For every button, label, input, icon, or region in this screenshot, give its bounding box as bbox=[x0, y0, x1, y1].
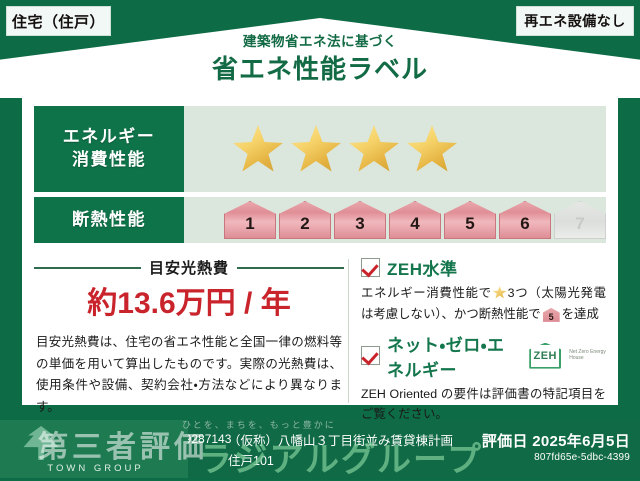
inline-star-icon bbox=[493, 286, 507, 299]
insulation-level-1: 1 bbox=[224, 201, 276, 239]
insulation-performance-label: 断熱性能 bbox=[34, 197, 184, 243]
insulation-level-7: 7 bbox=[554, 201, 606, 239]
claim-text-part2: は考慮しない）、かつ断熱性能で bbox=[361, 307, 541, 321]
insulation-level-2: 2 bbox=[279, 201, 331, 239]
energy-label-line2: 消費性能 bbox=[72, 149, 146, 172]
star-icon bbox=[406, 124, 458, 174]
label-card: エネルギー 消費性能 断熱性能 1234567 目安光熱費 約13.6万円 bbox=[22, 98, 618, 405]
insulation-level-number: 7 bbox=[575, 215, 584, 239]
claim-net-zero-energy-head: ネット・ゼロ・エネルギー ZEH Net Zero Energy House bbox=[361, 331, 606, 381]
utility-cost-note: 目安光熱費は、住宅の省エネ性能と全国一律の燃料等の単価を用いて算出したものです。… bbox=[34, 332, 344, 418]
lower-section: 目安光熱費 約13.6万円 / 年 目安光熱費は、住宅の省エネ性能と全国一律の燃… bbox=[34, 255, 606, 407]
insulation-level-number: 3 bbox=[355, 215, 364, 239]
insulation-level-5: 5 bbox=[444, 201, 496, 239]
energy-performance-label: エネルギー 消費性能 bbox=[34, 106, 184, 192]
zeh-logo-icon: ZEH bbox=[529, 343, 561, 369]
page-title: 省エネ性能ラベル bbox=[0, 53, 640, 86]
insulation-level-number: 2 bbox=[300, 215, 309, 239]
label-subtitle: 建築物省エネ法に基づく bbox=[0, 34, 640, 51]
footer-evaluation-date: 評価日 2025年6月5日 bbox=[482, 430, 630, 451]
insulation-level-6: 6 bbox=[499, 201, 551, 239]
claim-zeh-standard-body: エネルギー消費性能で3つ（太陽光発電は考慮しない）、かつ断熱性能で5を達成 bbox=[361, 283, 606, 325]
star-icon bbox=[348, 124, 400, 174]
insulation-performance-value: 1234567 bbox=[184, 197, 606, 243]
claim-net-zero-energy-title: ネット・ゼロ・エネルギー bbox=[387, 331, 518, 381]
tree-icon bbox=[18, 426, 64, 460]
claim-zeh-standard: ZEH水準 エネルギー消費性能で3つ（太陽光発電は考慮しない）、かつ断熱性能で5… bbox=[361, 255, 606, 325]
label-header: 建築物省エネ法に基づく 省エネ性能ラベル bbox=[0, 34, 640, 85]
vertical-divider bbox=[348, 259, 349, 403]
claim-zeh-standard-head: ZEH水準 bbox=[361, 255, 606, 280]
claim-text-star: 3つ（太陽光発電 bbox=[508, 286, 606, 300]
checkbox-checked-icon[interactable] bbox=[361, 258, 380, 277]
insulation-level-number: 1 bbox=[245, 215, 254, 239]
inline-house-level-icon: 5 bbox=[543, 308, 560, 322]
insulation-level-number: 6 bbox=[520, 215, 529, 239]
town-group-logo-text: TOWN GROUP bbox=[8, 463, 183, 474]
footer-bar: 49287143 （仮称）八幡山３丁目街並み賃貸棟計画 住戸101 評価日 20… bbox=[0, 420, 640, 478]
footer-unit-number: 住戸101 bbox=[228, 450, 274, 469]
star-icon bbox=[232, 124, 284, 174]
energy-performance-row: エネルギー 消費性能 bbox=[34, 106, 606, 192]
footer-project-name: （仮称）八幡山３丁目街並み賃貸棟計画 bbox=[228, 432, 453, 451]
utility-cost-heading: 目安光熱費 bbox=[149, 257, 229, 278]
insulation-performance-row: 断熱性能 1234567 bbox=[34, 197, 606, 243]
insulation-level-number: 5 bbox=[465, 215, 474, 239]
utility-cost-block: 目安光熱費 約13.6万円 / 年 目安光熱費は、住宅の省エネ性能と全国一律の燃… bbox=[34, 255, 344, 407]
footer-hash-code: 807fd65e-5dbc-4399 bbox=[534, 452, 630, 463]
insulation-level-scale: 1234567 bbox=[184, 201, 606, 239]
town-group-logo: TOWN GROUP bbox=[0, 420, 188, 478]
insulation-level-number: 4 bbox=[410, 215, 419, 239]
claim-text-part3: を達成 bbox=[562, 307, 599, 321]
claims-block: ZEH水準 エネルギー消費性能で3つ（太陽光発電は考慮しない）、かつ断熱性能で5… bbox=[357, 255, 606, 407]
housing-type-badge: 住宅（住戸） bbox=[6, 6, 111, 36]
star-rating bbox=[184, 124, 458, 174]
claim-text-part1: エネルギー消費性能で bbox=[361, 286, 492, 300]
utility-cost-heading-row: 目安光熱費 bbox=[34, 257, 344, 278]
utility-cost-amount: 約13.6万円 / 年 bbox=[34, 287, 344, 320]
rule-left bbox=[34, 267, 141, 269]
energy-label-line1: エネルギー bbox=[63, 126, 156, 149]
insulation-level-3: 3 bbox=[334, 201, 386, 239]
rule-right bbox=[237, 267, 344, 269]
claim-zeh-standard-title: ZEH水準 bbox=[387, 255, 458, 280]
claim-net-zero-energy: ネット・ゼロ・エネルギー ZEH Net Zero Energy House Z… bbox=[361, 331, 606, 426]
checkbox-checked-icon[interactable] bbox=[361, 346, 380, 365]
insulation-level-4: 4 bbox=[389, 201, 441, 239]
star-icon bbox=[290, 124, 342, 174]
zeh-logo-sublabel: Net Zero Energy House bbox=[569, 350, 606, 361]
renewable-equipment-badge: 再エネ設備なし bbox=[516, 6, 634, 36]
energy-performance-value bbox=[184, 106, 606, 192]
